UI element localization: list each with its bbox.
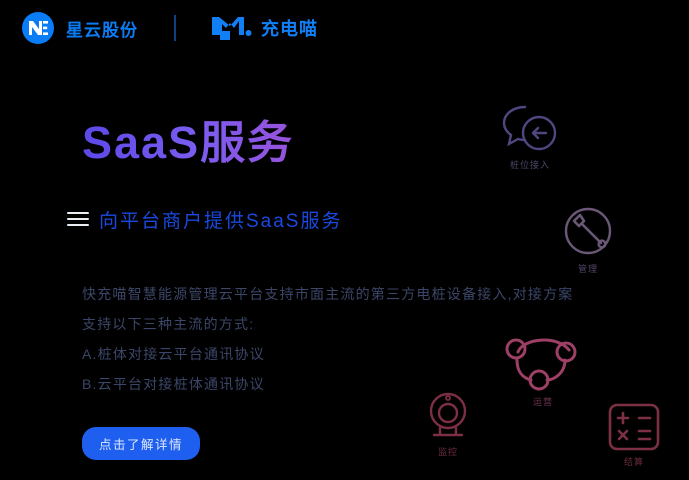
- brand-primary-name: 星云股份: [66, 16, 138, 41]
- brand-secondary-name: 充电喵: [261, 15, 318, 41]
- cat-face-logo-icon: [210, 15, 252, 41]
- subtitle-row: 向平台商户提供SaaS服务: [67, 206, 602, 233]
- learn-more-button[interactable]: 点击了解详情: [82, 427, 200, 460]
- chat-bubbles-arrow-icon: [500, 103, 560, 155]
- deco-share-label: 运营: [503, 395, 583, 408]
- brand-secondary[interactable]: 充电喵: [210, 15, 318, 41]
- wrench-gear-icon: [560, 205, 616, 259]
- deco-settle: 结算: [607, 402, 661, 468]
- network-nodes-icon: [503, 330, 583, 392]
- header-divider: [174, 15, 176, 41]
- camera-monitor-icon: [424, 390, 472, 442]
- deco-manage-label: 管理: [560, 262, 616, 275]
- deco-monitor-label: 监控: [424, 445, 472, 458]
- deco-share: 运营: [503, 330, 583, 408]
- deco-monitor: 监控: [424, 390, 472, 458]
- calculator-icon: [607, 402, 661, 452]
- ne-circle-logo-icon: [22, 12, 54, 44]
- deco-access: 桩位接入: [500, 103, 560, 171]
- deco-settle-label: 结算: [607, 455, 661, 468]
- deco-access-label: 桩位接入: [500, 158, 560, 171]
- app-header: 星云股份 充电喵: [0, 0, 689, 56]
- page-subtitle: 向平台商户提供SaaS服务: [99, 206, 342, 233]
- deco-manage: 管理: [560, 205, 616, 275]
- brand-primary[interactable]: 星云股份: [22, 12, 138, 44]
- hamburger-icon: [67, 212, 89, 226]
